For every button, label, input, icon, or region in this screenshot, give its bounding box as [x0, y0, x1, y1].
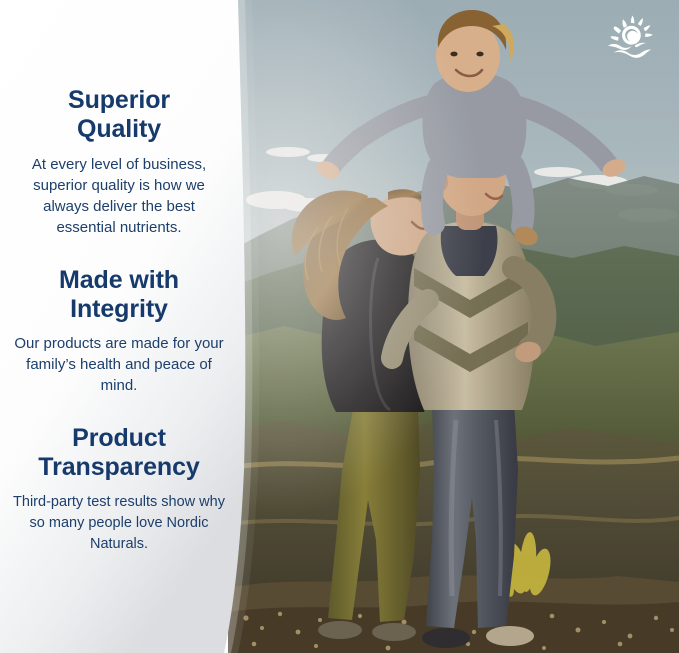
family-lifestyle-photo	[228, 0, 679, 653]
heading-line-1: Product	[72, 424, 166, 452]
block-heading-superior-quality: Superior Quality	[13, 86, 225, 145]
heading-line-1: Made with	[59, 266, 179, 294]
block-heading-made-with-integrity: Made with Integrity	[13, 266, 225, 325]
block-body-product-transparency: Third-party test results show why so man…	[13, 492, 225, 555]
heading-line-1: Superior	[68, 86, 170, 114]
block-body-made-with-integrity: Our products are made for your family’s …	[13, 333, 225, 396]
value-block-product-transparency: Product Transparency Third-party test re…	[13, 424, 225, 555]
heading-line-2: Integrity	[70, 295, 168, 323]
heading-line-2: Transparency	[38, 453, 199, 481]
sun-waves-logo-icon	[605, 14, 657, 60]
brand-values-banner: Superior Quality At every level of busin…	[0, 0, 679, 653]
value-block-superior-quality: Superior Quality At every level of busin…	[13, 86, 225, 238]
block-body-superior-quality: At every level of business, superior qua…	[13, 154, 225, 238]
value-props-list: Superior Quality At every level of busin…	[0, 0, 238, 653]
value-block-made-with-integrity: Made with Integrity Our products are mad…	[13, 266, 225, 397]
block-heading-product-transparency: Product Transparency	[13, 424, 225, 483]
heading-line-2: Quality	[77, 115, 161, 143]
